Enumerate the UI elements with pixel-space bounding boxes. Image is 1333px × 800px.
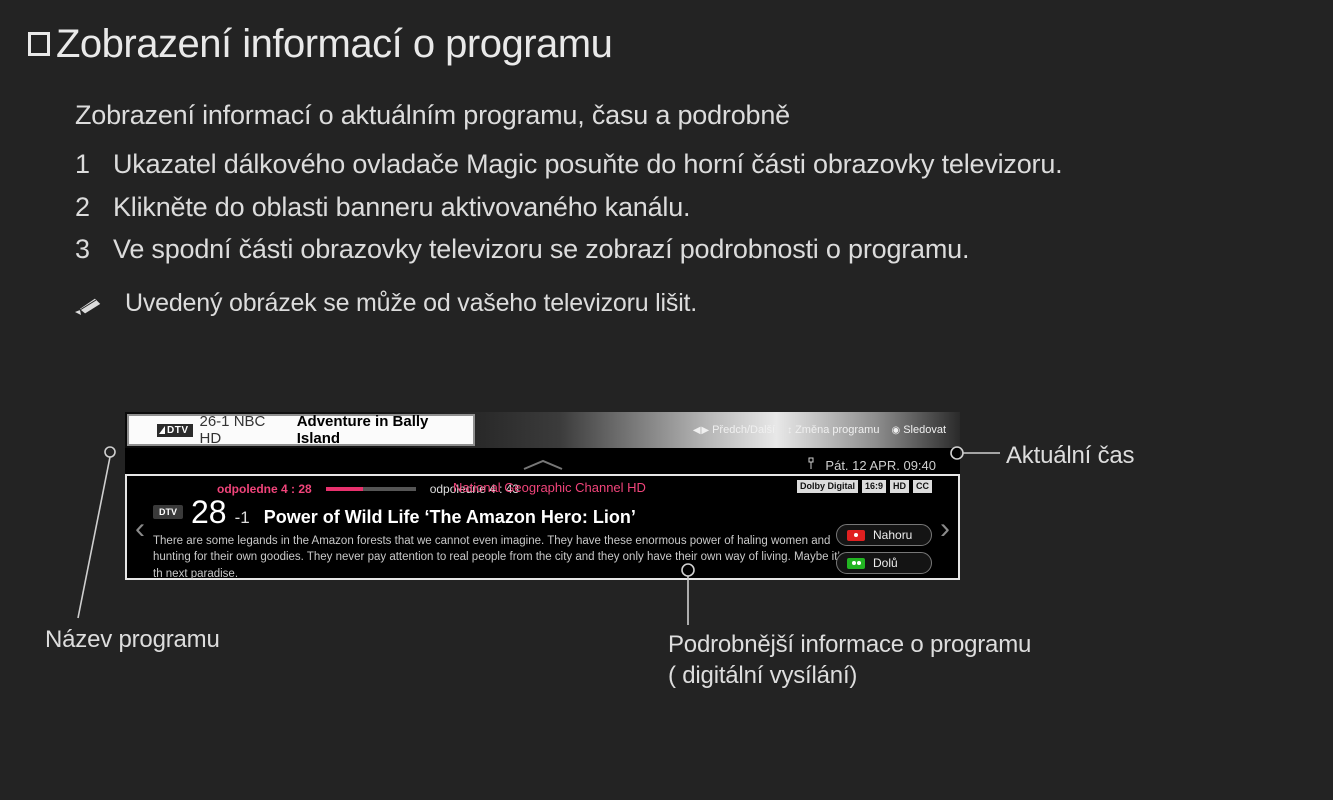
clock-text: Pát. 12 APR. 09:40 <box>825 458 936 473</box>
left-right-arrows-icon: ◀ ▶ <box>693 425 708 436</box>
page-title: Zobrazení informací o programu <box>28 22 612 67</box>
badge-closed-caption: CC <box>913 480 932 493</box>
callout-more-info-line2: ( digitální vysílání) <box>668 661 1031 692</box>
scroll-down-label: Dolů <box>873 556 898 570</box>
pencil-icon <box>75 289 109 322</box>
note-block: Uvedený obrázek se může od vašeho televi… <box>75 289 1255 322</box>
network-name: National Geographic Channel HD <box>453 480 646 495</box>
scroll-down-button[interactable]: Dolů <box>836 552 932 574</box>
banner-program-name: Adventure in Bally Island <box>297 413 473 447</box>
wheel-icon: ◉ <box>891 425 899 436</box>
step-text: Ve spodní části obrazovky televizoru se … <box>113 233 1255 267</box>
instruction-step: 1 Ukazatel dálkového ovladače Magic posu… <box>75 148 1255 182</box>
dtv-icon: DTV <box>157 424 193 437</box>
step-text: Klikněte do oblasti banneru aktivovaného… <box>113 191 1255 225</box>
channel-banner-highlight[interactable]: DTV 26-1 NBC HD Adventure in Bally Islan… <box>127 414 475 446</box>
callout-program-title: Název programu <box>45 626 220 654</box>
callout-more-info: Podrobnější informace o programu ( digit… <box>668 630 1031 691</box>
prev-program-arrow-icon[interactable]: ‹ <box>131 508 149 550</box>
step-number: 1 <box>75 148 113 182</box>
progress-fill <box>326 487 364 491</box>
step-number: 2 <box>75 191 113 225</box>
scroll-up-button[interactable]: Nahoru <box>836 524 932 546</box>
program-progress-bar <box>326 487 416 491</box>
badge-hd: HD <box>890 480 909 493</box>
program-description: There are some legands in the Amazon for… <box>153 533 853 582</box>
callout-current-time: Aktuální čas <box>1006 442 1134 470</box>
program-detail-panel: ‹ › odpoledne 4 : 28 odpoledne 4 : 43 Na… <box>125 474 960 580</box>
step-text: Ukazatel dálkového ovladače Magic posuňt… <box>113 148 1255 182</box>
clock-icon <box>805 457 817 473</box>
square-icon <box>28 32 50 56</box>
instruction-step: 2 Klikněte do oblasti banneru aktivované… <box>75 191 1255 225</box>
red-key-icon <box>847 530 865 541</box>
callout-more-info-line1: Podrobnější informace o programu <box>668 630 1031 661</box>
dtv-icon: DTV <box>153 505 183 519</box>
program-title: Power of Wild Life ‘The Amazon Hero: Lio… <box>264 507 636 528</box>
program-time-row: odpoledne 4 : 28 odpoledne 4 : 43 Nation… <box>153 480 932 498</box>
instruction-lead: Zobrazení informací o aktuálním programu… <box>75 100 1255 132</box>
instruction-step: 3 Ve spodní části obrazovky televizoru s… <box>75 233 1255 267</box>
hint-change-program[interactable]: ↕ Změna programu <box>787 424 879 436</box>
chevron-up-icon[interactable] <box>520 458 566 472</box>
panel-scroll-buttons: Nahoru Dolů <box>836 524 932 574</box>
banner-channel-number: 26-1 NBC HD <box>200 413 290 447</box>
channel-major-number: 28 <box>191 496 227 528</box>
hint-label: Sledovat <box>903 424 946 436</box>
tv-screenshot: DTV 26-1 NBC HD Adventure in Bally Islan… <box>125 412 960 580</box>
hint-label: Změna programu <box>795 424 879 436</box>
hint-prev-next[interactable]: ◀ ▶ Předch/Další <box>693 424 775 436</box>
program-start-time: odpoledne 4 : 28 <box>217 482 312 496</box>
green-key-icon <box>847 558 865 569</box>
current-time: Pát. 12 APR. 09:40 <box>805 457 936 473</box>
channel-minor-number: -1 <box>235 508 250 528</box>
hint-label: Předch/Další <box>712 424 775 436</box>
page-title-text: Zobrazení informací o programu <box>56 22 612 67</box>
note-text: Uvedený obrázek se může od vašeho televi… <box>125 289 697 318</box>
instructions-block: Zobrazení informací o aktuálním programu… <box>75 100 1255 322</box>
scroll-up-label: Nahoru <box>873 528 912 542</box>
hint-watch[interactable]: ◉ Sledovat <box>891 424 946 436</box>
badge-dolby-digital: Dolby Digital <box>797 480 858 493</box>
badge-aspect-ratio: 16:9 <box>862 480 886 493</box>
program-title-row: DTV 28 -1 Power of Wild Life ‘The Amazon… <box>153 496 932 528</box>
step-number: 3 <box>75 233 113 267</box>
up-down-arrows-icon: ↕ <box>787 425 791 436</box>
next-program-arrow-icon[interactable]: › <box>936 508 954 550</box>
banner-hints: ◀ ▶ Předch/Další ↕ Změna programu ◉ Sled… <box>693 412 946 448</box>
channel-banner: DTV 26-1 NBC HD Adventure in Bally Islan… <box>125 412 960 448</box>
program-badges: Dolby Digital 16:9 HD CC <box>797 480 932 493</box>
